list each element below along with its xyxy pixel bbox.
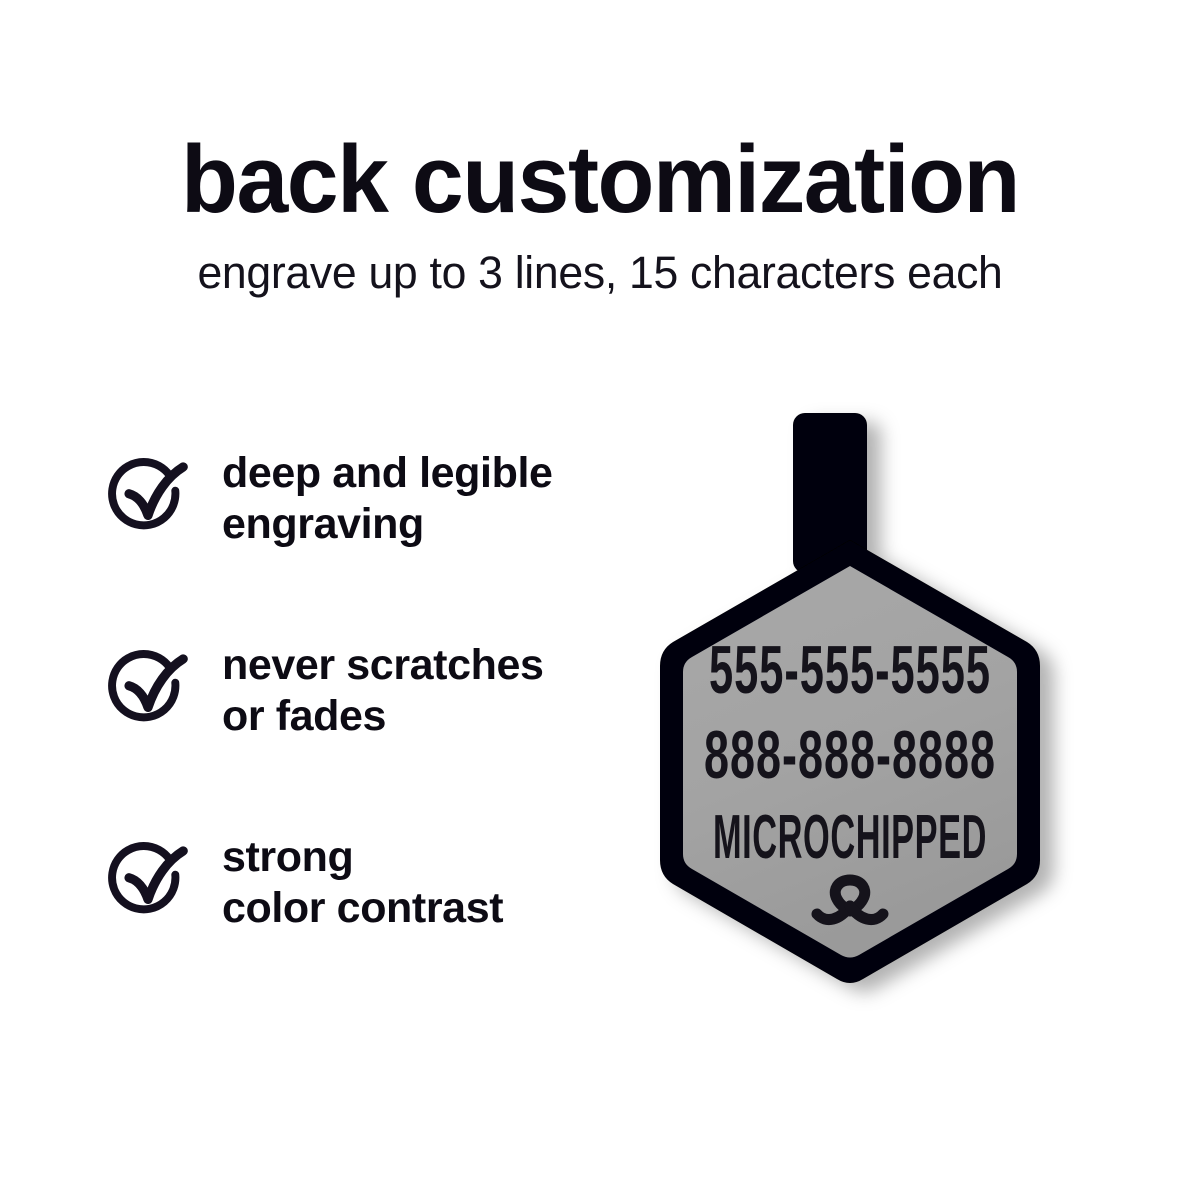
check-circle-icon — [104, 644, 192, 732]
check-circle-icon — [104, 452, 192, 540]
feature-item: strong color contrast — [104, 832, 624, 934]
page-title: back customization — [18, 132, 1182, 228]
engraved-line-3: MICROCHIPPED — [713, 803, 987, 872]
feature-label-line-2: or fades — [222, 691, 624, 742]
feature-label: never scratches or fades — [222, 640, 624, 742]
feature-label-line-1: never scratches — [222, 640, 624, 691]
feature-list: deep and legible engraving never scratch… — [104, 448, 624, 934]
feature-label-line-1: strong — [222, 832, 624, 883]
feature-item: never scratches or fades — [104, 640, 624, 742]
page-subtitle: engrave up to 3 lines, 15 characters eac… — [6, 250, 1194, 295]
engraved-line-2: 888-888-8888 — [704, 717, 996, 793]
poster-canvas: back customization engrave up to 3 lines… — [0, 0, 1200, 1200]
feature-label: strong color contrast — [222, 832, 624, 934]
header: back customization engrave up to 3 lines… — [0, 132, 1200, 295]
engraved-line-1: 555-555-5555 — [709, 632, 991, 708]
feature-label-line-2: engraving — [222, 499, 624, 550]
feature-label: deep and legible engraving — [222, 448, 624, 550]
feature-label-line-2: color contrast — [222, 883, 624, 934]
feature-label-line-1: deep and legible — [222, 448, 624, 499]
feature-item: deep and legible engraving — [104, 448, 624, 550]
pet-tag-illustration: 555-555-5555 888-888-8888 MICROCHIPPED — [600, 390, 1100, 1020]
check-circle-icon — [104, 836, 192, 924]
